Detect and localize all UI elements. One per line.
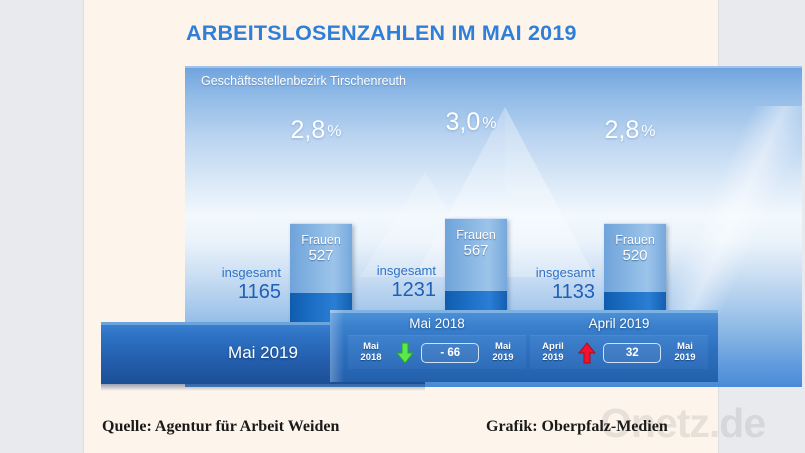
rate-number-1: 2,8 (291, 116, 326, 144)
women-label-2: Frauen (445, 228, 507, 242)
page-title: ARBEITSLOSENZAHLEN IM MAI 2019 (186, 21, 577, 46)
infographic-card: ARBEITSLOSENZAHLEN IM MAI 2019 Geschäfts… (84, 0, 718, 453)
total-2: insgesamt 1231 (332, 264, 436, 301)
comparison-from-line1-1: Mai (363, 341, 379, 352)
comparison-strip-2: April 2019 32 Mai 2019 (530, 335, 708, 369)
comparison-title-1: Mai 2018 (344, 316, 530, 331)
comparison-april-2019: April 2019 April 2019 32 Mai 2019 (526, 313, 712, 379)
comparison-to-line2-1: 2019 (492, 352, 513, 363)
comparison-from-2: April 2019 (536, 342, 570, 363)
comparison-to-line2-2: 2019 (674, 352, 695, 363)
percent-symbol-2: % (482, 115, 496, 132)
band-comparisons: Mai 2018 Mai 2018 - 66 Mai 2019 (330, 310, 718, 382)
infographic-root: ARBEITSLOSENZAHLEN IM MAI 2019 Geschäfts… (0, 0, 805, 453)
women-value-2: 567 (445, 242, 507, 259)
comparison-to-line1-1: Mai (495, 341, 511, 352)
comparison-title-2: April 2019 (526, 316, 712, 331)
footer-source: Quelle: Agentur für Arbeit Weiden (102, 418, 339, 436)
band-left-shadow (101, 384, 425, 391)
comparison-from-line2-1: 2018 (360, 352, 381, 363)
comparison-from-1: Mai 2018 (354, 342, 388, 363)
total-3: insgesamt 1133 (491, 266, 595, 303)
comparison-mai-2018: Mai 2018 Mai 2018 - 66 Mai 2019 (344, 313, 530, 379)
delta-value-1: - 66 (421, 343, 479, 363)
comparison-to-line1-2: Mai (677, 341, 693, 352)
total-value-1: 1165 (185, 282, 281, 303)
bar-segment-women-3: Frauen 520 (604, 223, 666, 292)
rate-number-3: 2,8 (605, 116, 640, 144)
women-label-3: Frauen (604, 233, 666, 247)
rate-number-2: 3,0 (446, 108, 481, 136)
percent-symbol-1: % (327, 123, 341, 140)
total-label-3: insgesamt (491, 266, 595, 280)
total-value-3: 1133 (491, 282, 595, 303)
total-value-2: 1231 (332, 280, 436, 301)
delta-value-2: 32 (603, 343, 661, 363)
comparison-from-line1-2: April (542, 341, 564, 352)
total-label-2: insgesamt (332, 264, 436, 278)
rate-value-3: 2,8% (530, 116, 730, 145)
arrow-up-icon (577, 341, 597, 365)
total-1: insgesamt 1165 (185, 266, 281, 303)
women-label-1: Frauen (290, 233, 352, 247)
total-label-1: insgesamt (185, 266, 281, 280)
band-right-bevel (330, 310, 344, 382)
comparison-strip-1: Mai 2018 - 66 Mai 2019 (348, 335, 526, 369)
arrow-down-icon (395, 341, 415, 365)
comparison-from-line2-2: 2019 (542, 352, 563, 363)
women-value-3: 520 (604, 247, 666, 264)
women-value-1: 527 (290, 247, 352, 264)
comparison-to-2: Mai 2019 (668, 342, 702, 363)
percent-symbol-3: % (641, 123, 655, 140)
comparison-to-1: Mai 2019 (486, 342, 520, 363)
footer-credit: Grafik: Oberpfalz-Medien (486, 418, 668, 436)
